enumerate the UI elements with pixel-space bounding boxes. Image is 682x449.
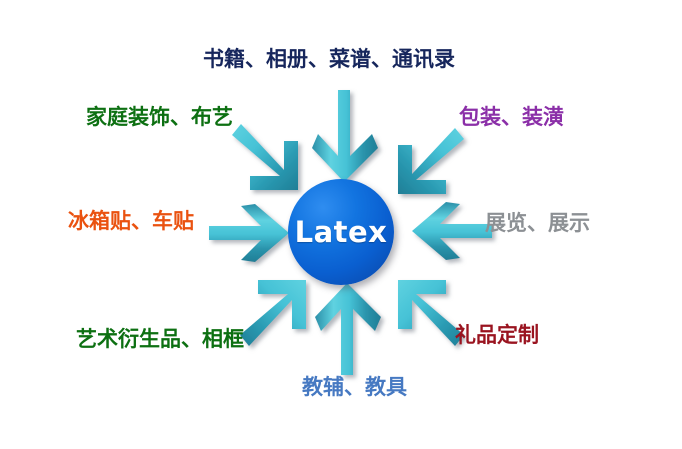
center-node-label: Latex bbox=[295, 218, 388, 247]
node-label-exhibition: 展览、展示 bbox=[485, 212, 590, 235]
center-node-latex: Latex bbox=[288, 179, 394, 285]
node-label-magnets-stickers: 冰箱贴、车贴 bbox=[68, 210, 194, 233]
node-label-teaching-aids: 教辅、教具 bbox=[302, 376, 407, 399]
arrow-down-right-icon bbox=[232, 124, 306, 194]
node-label-books: 书籍、相册、菜谱、通讯录 bbox=[203, 48, 455, 71]
node-label-home-decor: 家庭装饰、布艺 bbox=[86, 106, 233, 129]
arrow-down-left-icon bbox=[390, 128, 464, 198]
node-label-gift-customization: 礼品定制 bbox=[455, 324, 539, 347]
diagram-canvas: Latex 书籍、相册、菜谱、通讯录 家庭装饰、布艺 包装、装潢 冰箱贴、车贴 … bbox=[0, 0, 682, 449]
arrow-up-left-icon bbox=[390, 276, 464, 346]
arrow-left-icon bbox=[412, 202, 492, 260]
node-label-art-derivatives: 艺术衍生品、相框 bbox=[76, 328, 244, 351]
node-label-packaging: 包装、装潢 bbox=[459, 106, 564, 129]
arrow-up-right-icon bbox=[240, 276, 314, 346]
arrow-up-icon bbox=[315, 283, 381, 375]
arrow-right-icon bbox=[209, 204, 289, 262]
arrow-down-icon bbox=[312, 90, 378, 182]
